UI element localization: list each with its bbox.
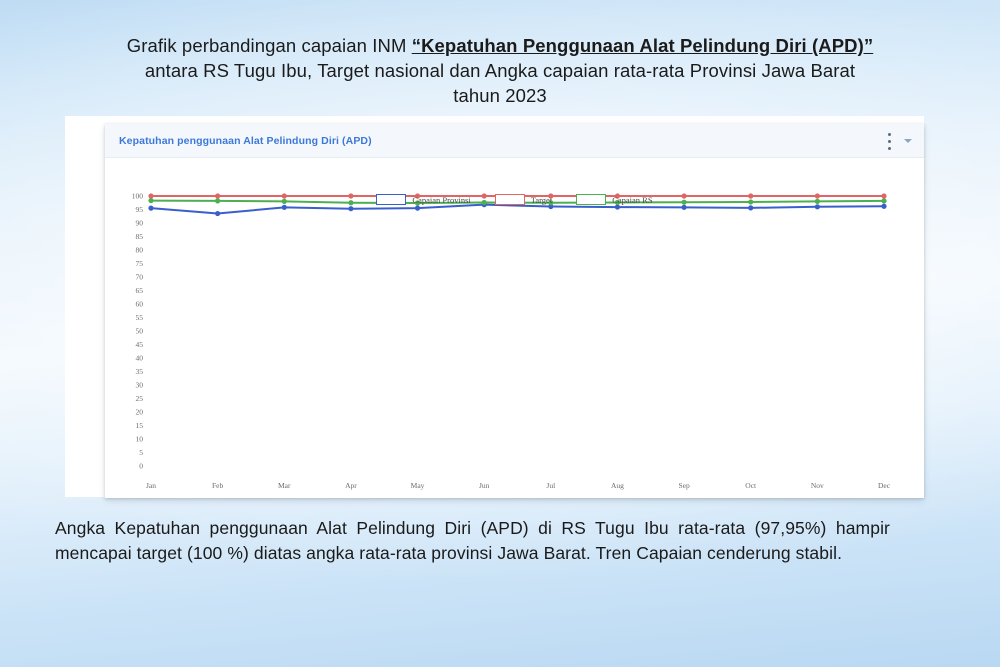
title-line-1-emphasis: “Kepatuhan Penggunaan Alat Pelindung Dir… bbox=[412, 35, 874, 56]
y-axis-tick-label: 90 bbox=[136, 219, 144, 228]
data-point[interactable] bbox=[215, 198, 220, 203]
x-axis-tick-label: Jul bbox=[546, 481, 555, 490]
data-point[interactable] bbox=[748, 193, 753, 198]
line-chart-svg: 1009590858075706560555045403530252015105… bbox=[105, 158, 924, 498]
x-axis-tick-label: Mar bbox=[278, 481, 291, 490]
data-point[interactable] bbox=[482, 200, 487, 205]
x-axis-tick-label: Jun bbox=[479, 481, 490, 490]
data-point[interactable] bbox=[415, 200, 420, 205]
data-point[interactable] bbox=[748, 199, 753, 204]
x-axis-tick-label: Sep bbox=[678, 481, 690, 490]
chevron-down-icon[interactable] bbox=[904, 139, 912, 143]
x-axis-tick-label: Jan bbox=[146, 481, 156, 490]
y-axis-tick-label: 70 bbox=[136, 273, 144, 282]
chart-card-title: Kepatuhan penggunaan Alat Pelindung Diri… bbox=[119, 135, 372, 147]
data-point[interactable] bbox=[348, 200, 353, 205]
kebab-dot-1 bbox=[888, 133, 891, 136]
data-point[interactable] bbox=[615, 200, 620, 205]
data-point[interactable] bbox=[348, 206, 353, 211]
x-axis-tick-label: Apr bbox=[345, 481, 357, 490]
x-axis-tick-label: Oct bbox=[745, 481, 757, 490]
content-panel: Kepatuhan penggunaan Alat Pelindung Diri… bbox=[65, 116, 924, 497]
data-point[interactable] bbox=[148, 198, 153, 203]
series-line bbox=[151, 201, 884, 203]
data-point[interactable] bbox=[548, 193, 553, 198]
y-axis-tick-label: 75 bbox=[136, 259, 144, 268]
y-axis-tick-label: 30 bbox=[136, 381, 144, 390]
data-point[interactable] bbox=[881, 198, 886, 203]
data-point[interactable] bbox=[282, 193, 287, 198]
y-axis-tick-label: 55 bbox=[136, 313, 144, 322]
data-point[interactable] bbox=[748, 205, 753, 210]
data-point[interactable] bbox=[482, 193, 487, 198]
y-axis-tick-label: 5 bbox=[139, 448, 143, 457]
x-axis-tick-label: Nov bbox=[811, 481, 824, 490]
y-axis-tick-label: 100 bbox=[132, 192, 144, 201]
series-layer bbox=[148, 193, 886, 216]
y-axis-tick-label: 15 bbox=[136, 421, 144, 430]
kebab-menu-icon[interactable] bbox=[882, 133, 896, 150]
kebab-dot-2 bbox=[888, 140, 891, 143]
data-point[interactable] bbox=[615, 204, 620, 209]
data-point[interactable] bbox=[681, 193, 686, 198]
data-point[interactable] bbox=[148, 193, 153, 198]
y-axis-tick-label: 60 bbox=[136, 300, 144, 309]
y-axis-tick-label: 65 bbox=[136, 286, 144, 295]
data-point[interactable] bbox=[282, 205, 287, 210]
y-axis-tick-label: 85 bbox=[136, 232, 144, 241]
data-point[interactable] bbox=[282, 199, 287, 204]
chart-card: Kepatuhan penggunaan Alat Pelindung Diri… bbox=[105, 124, 924, 498]
y-axis-tick-label: 45 bbox=[136, 340, 144, 349]
x-axis-tick-label: Aug bbox=[611, 481, 624, 490]
y-axis-tick-label: 0 bbox=[139, 462, 143, 471]
y-axis-tick-label: 40 bbox=[136, 354, 144, 363]
y-axis-tick-label: 20 bbox=[136, 408, 144, 417]
title-line-1: Grafik perbandingan capaian INM “Kepatuh… bbox=[90, 33, 910, 58]
kebab-dot-3 bbox=[888, 147, 891, 150]
data-point[interactable] bbox=[148, 206, 153, 211]
y-axis-tick-label: 80 bbox=[136, 246, 144, 255]
y-axis-labels: 1009590858075706560555045403530252015105… bbox=[132, 192, 144, 471]
data-point[interactable] bbox=[815, 204, 820, 209]
x-axis-labels: JanFebMarAprMayJunJulAugSepOctNovDec bbox=[146, 481, 891, 490]
data-point[interactable] bbox=[548, 200, 553, 205]
y-axis-tick-label: 95 bbox=[136, 205, 144, 214]
title-line-1-prefix: Grafik perbandingan capaian INM bbox=[127, 35, 412, 56]
x-axis-tick-label: Dec bbox=[878, 481, 891, 490]
x-axis-tick-label: Feb bbox=[212, 481, 224, 490]
data-point[interactable] bbox=[215, 211, 220, 216]
data-point[interactable] bbox=[415, 193, 420, 198]
data-point[interactable] bbox=[815, 193, 820, 198]
title-line-3: tahun 2023 bbox=[90, 83, 910, 108]
slide-caption: Angka Kepatuhan penggunaan Alat Pelindun… bbox=[55, 516, 890, 565]
plot-area: 1009590858075706560555045403530252015105… bbox=[105, 158, 924, 498]
data-point[interactable] bbox=[615, 193, 620, 198]
y-axis-tick-label: 35 bbox=[136, 367, 144, 376]
x-axis-tick-label: May bbox=[411, 481, 425, 490]
data-point[interactable] bbox=[348, 193, 353, 198]
data-point[interactable] bbox=[881, 204, 886, 209]
slide-title: Grafik perbandingan capaian INM “Kepatuh… bbox=[90, 33, 910, 108]
y-axis-tick-label: 10 bbox=[136, 435, 144, 444]
title-line-2: antara RS Tugu Ibu, Target nasional dan … bbox=[90, 58, 910, 83]
data-point[interactable] bbox=[681, 200, 686, 205]
y-axis-tick-label: 50 bbox=[136, 327, 144, 336]
data-point[interactable] bbox=[815, 199, 820, 204]
data-point[interactable] bbox=[881, 193, 886, 198]
data-point[interactable] bbox=[681, 205, 686, 210]
series-line bbox=[151, 205, 884, 214]
y-axis-tick-label: 25 bbox=[136, 394, 144, 403]
chart-card-header: Kepatuhan penggunaan Alat Pelindung Diri… bbox=[105, 124, 924, 158]
data-point[interactable] bbox=[215, 193, 220, 198]
data-point[interactable] bbox=[415, 206, 420, 211]
